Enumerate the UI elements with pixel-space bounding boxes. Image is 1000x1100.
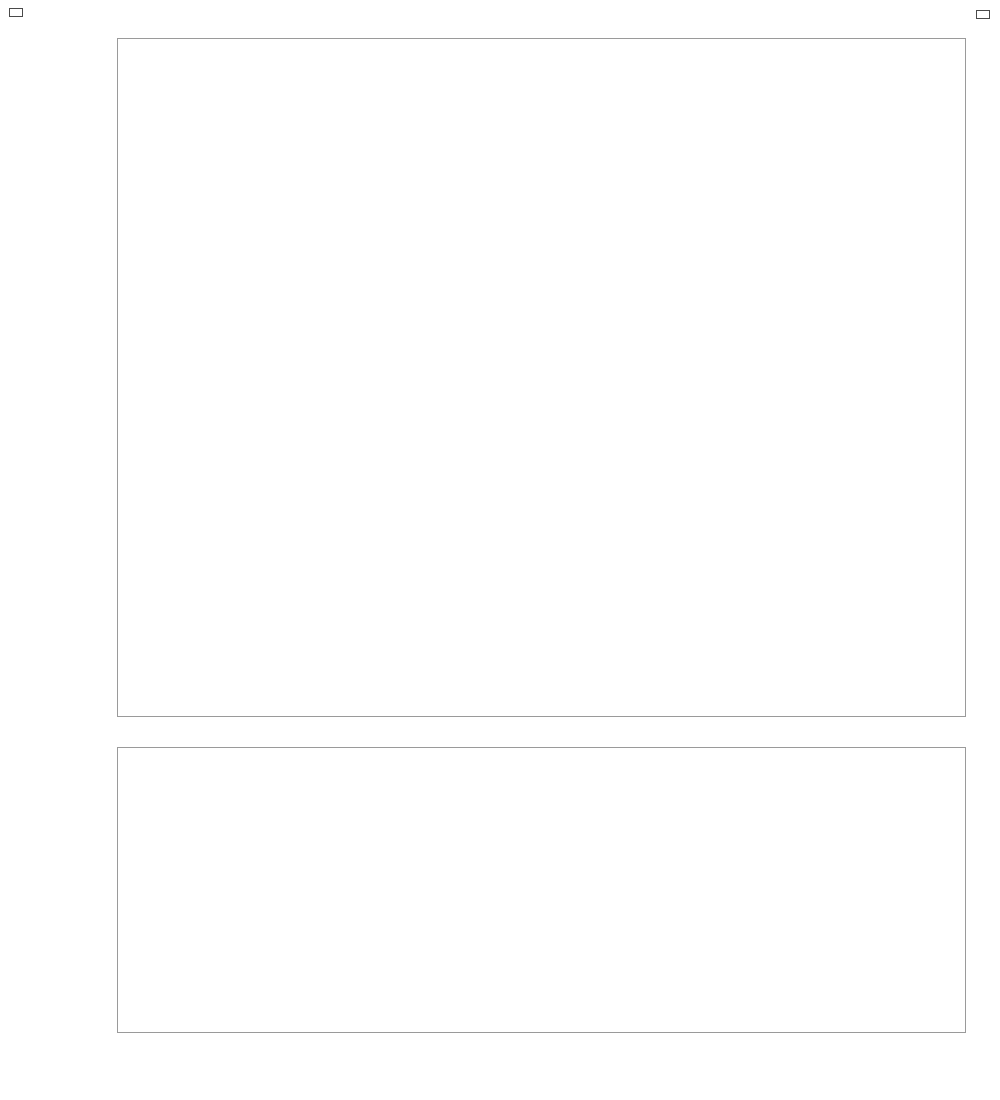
rupture-count-plot — [117, 747, 966, 1033]
incremental-rate-plot — [117, 38, 966, 717]
bottom-legend — [9, 8, 23, 17]
top-legend — [976, 10, 990, 19]
chart-page — [0, 0, 1000, 1100]
